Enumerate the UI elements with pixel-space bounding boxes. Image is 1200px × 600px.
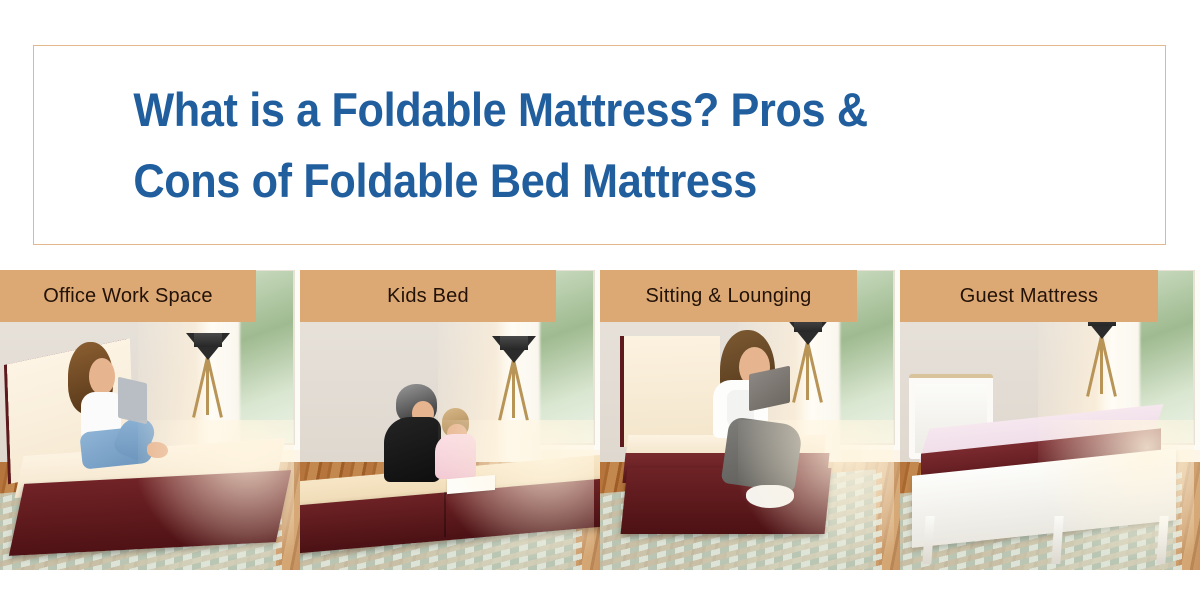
panel-label: Guest Mattress	[960, 285, 1098, 308]
panel-label: Office Work Space	[43, 285, 212, 308]
window-light	[438, 420, 594, 558]
panel-label: Kids Bed	[387, 285, 469, 308]
panel-label-banner: Kids Bed	[300, 270, 556, 322]
use-case-panel-sitting-lounging[interactable]: Sitting & Lounging	[600, 270, 900, 570]
panel-label: Sitting & Lounging	[646, 285, 812, 308]
panel-label-banner: Office Work Space	[0, 270, 256, 322]
use-case-photo-strip: Office Work Space	[0, 270, 1200, 570]
panel-label-banner: Guest Mattress	[900, 270, 1158, 322]
page-title: What is a Foldable Mattress? Pros & Cons…	[34, 74, 923, 217]
panel-label-banner: Sitting & Lounging	[600, 270, 857, 322]
title-card: What is a Foldable Mattress? Pros & Cons…	[33, 45, 1166, 245]
window-light	[1038, 420, 1194, 558]
use-case-panel-guest-mattress[interactable]: Guest Mattress	[900, 270, 1200, 570]
use-case-panel-kids-bed[interactable]: Kids Bed	[300, 270, 600, 570]
use-case-panel-office-work-space[interactable]: Office Work Space	[0, 270, 300, 570]
window-light	[138, 420, 294, 558]
page-root: What is a Foldable Mattress? Pros & Cons…	[0, 0, 1200, 600]
window-light	[738, 420, 894, 558]
